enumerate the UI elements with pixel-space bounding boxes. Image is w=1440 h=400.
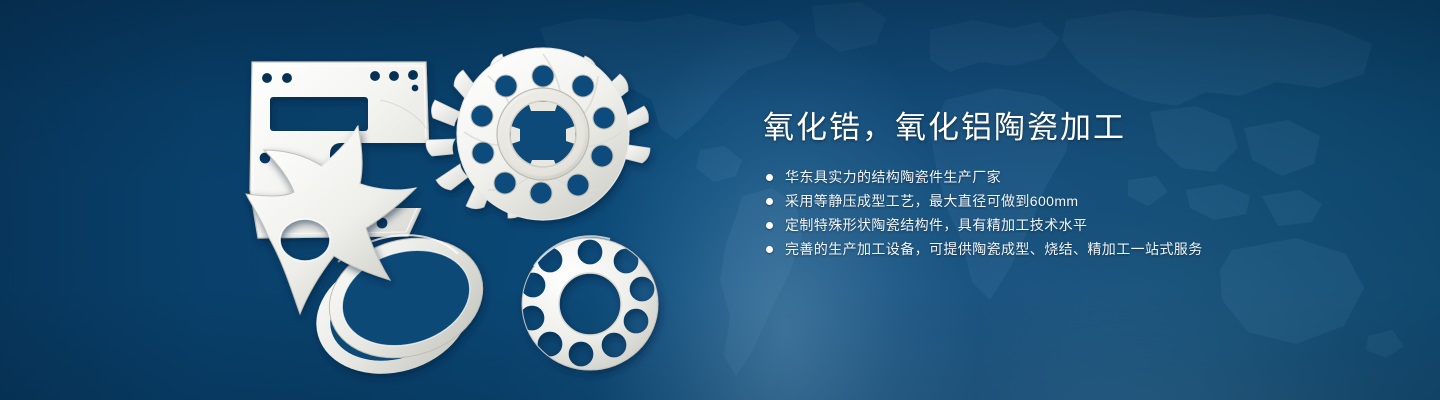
- hero-banner: 氧化锆，氧化铝陶瓷加工 华东具实力的结构陶瓷件生产厂家 采用等静压成型工艺，最大…: [0, 0, 1440, 400]
- bullet-dot-icon: [766, 222, 773, 229]
- list-item: 定制特殊形状陶瓷结构件，具有精加工技术水平: [766, 218, 1323, 233]
- feature-text: 定制特殊形状陶瓷结构件，具有精加工技术水平: [785, 218, 1087, 233]
- feature-text: 华东具实力的结构陶瓷件生产厂家: [785, 170, 1001, 185]
- feature-text: 完善的生产加工设备，可提供陶瓷成型、烧结、精加工一站式服务: [785, 242, 1203, 257]
- list-item: 完善的生产加工设备，可提供陶瓷成型、烧结、精加工一站式服务: [766, 242, 1323, 257]
- bullet-dot-icon: [766, 198, 773, 205]
- bullet-dot-icon: [766, 174, 773, 181]
- product-photo-cluster: [230, 40, 700, 380]
- list-item: 华东具实力的结构陶瓷件生产厂家: [766, 170, 1323, 185]
- page-title: 氧化锆，氧化铝陶瓷加工: [763, 108, 1323, 148]
- ceramic-impeller-disc: [426, 48, 650, 220]
- feature-text: 采用等静压成型工艺，最大直径可做到600mm: [785, 194, 1078, 209]
- feature-list: 华东具实力的结构陶瓷件生产厂家 采用等静压成型工艺，最大直径可做到600mm 定…: [766, 170, 1323, 257]
- ceramic-perforated-disc: [522, 236, 658, 370]
- bullet-dot-icon: [766, 246, 773, 253]
- list-item: 采用等静压成型工艺，最大直径可做到600mm: [766, 194, 1323, 209]
- marketing-copy: 氧化锆，氧化铝陶瓷加工 华东具实力的结构陶瓷件生产厂家 采用等静压成型工艺，最大…: [763, 108, 1323, 266]
